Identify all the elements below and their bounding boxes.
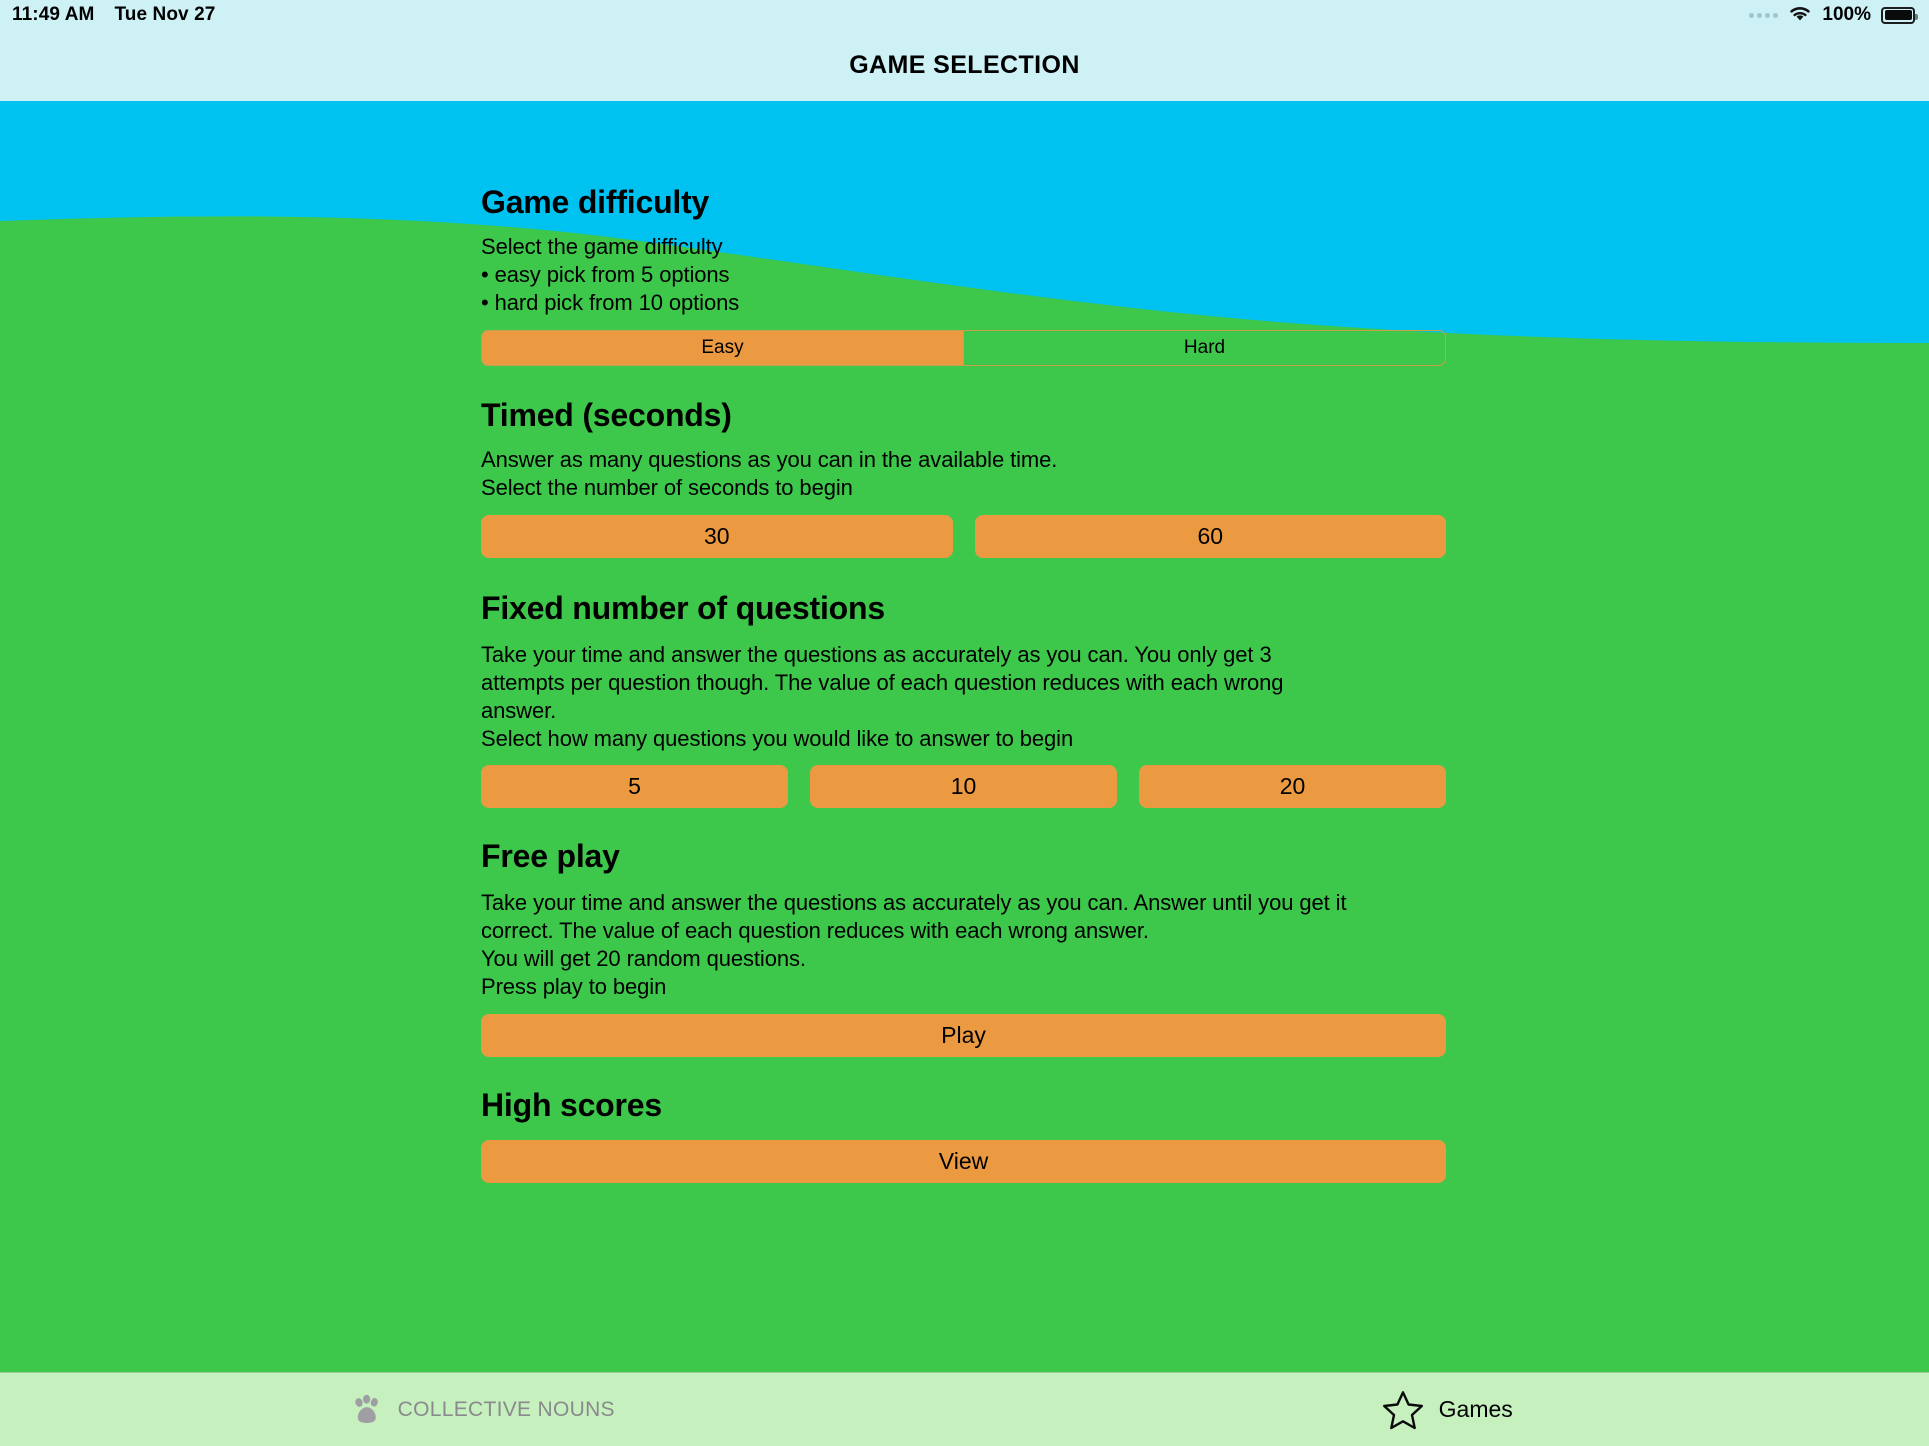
status-bar-left: 11:49 AM Tue Nov 27 [0,4,215,26]
signal-dots-icon [1749,13,1778,18]
tab-label-collective-nouns: COLLECTIVE NOUNS [398,1398,615,1422]
status-bar-right: 100% [1749,0,1915,30]
difficulty-option-hard[interactable]: Hard [964,331,1445,365]
free-play-desc-line-3: You will get 20 random questions. [481,945,1446,973]
star-outline-icon [1381,1389,1425,1431]
difficulty-desc-line-3: • hard pick from 10 options [481,289,1446,317]
tab-slot-collective-nouns: COLLECTIVE NOUNS [0,1373,965,1446]
fixed-desc-line-3: answer. [481,697,1446,725]
tab-bar: COLLECTIVE NOUNS Games [0,1372,1929,1446]
free-play-desc-line-2: correct. The value of each question redu… [481,917,1446,945]
difficulty-option-easy[interactable]: Easy [482,331,964,365]
fixed-button-10[interactable]: 10 [810,765,1117,808]
section-desc-fixed-questions: Take your time and answer the questions … [481,641,1446,753]
section-desc-timed: Answer as many questions as you can in t… [481,446,1446,502]
section-timed: Timed (seconds) Answer as many questions… [481,397,1446,558]
free-play-button-row: Play [481,1014,1446,1057]
timed-button-60[interactable]: 60 [975,515,1447,558]
section-high-scores: High scores View [481,1087,1446,1183]
page-title: GAME SELECTION [849,51,1080,80]
fixed-desc-line-4: Select how many questions you would like… [481,725,1446,753]
section-title-high-scores: High scores [481,1087,1446,1124]
play-button[interactable]: Play [481,1014,1446,1057]
section-fixed-questions: Fixed number of questions Take your time… [481,590,1446,808]
section-desc-game-difficulty: Select the game difficulty • easy pick f… [481,233,1446,317]
timed-button-30[interactable]: 30 [481,515,953,558]
battery-percent-label: 100% [1822,4,1871,26]
tab-games[interactable]: Games [1381,1389,1513,1431]
battery-full-icon [1881,7,1915,24]
navigation-bar: GAME SELECTION [0,30,1929,101]
paw-print-icon [350,1394,384,1426]
free-play-desc-line-1: Take your time and answer the questions … [481,889,1446,917]
tab-slot-games: Games [965,1373,1929,1446]
fixed-button-row: 5 10 20 [481,765,1446,808]
section-title-free-play: Free play [481,838,1446,875]
timed-button-row: 30 60 [481,515,1446,558]
status-date: Tue Nov 27 [114,4,215,26]
section-title-game-difficulty: Game difficulty [481,184,1446,221]
fixed-button-5[interactable]: 5 [481,765,788,808]
status-time: 11:49 AM [12,4,94,26]
app-screen: 11:49 AM Tue Nov 27 100% GAME SELECTION [0,0,1929,1446]
tab-label-games: Games [1439,1396,1513,1423]
fixed-button-20[interactable]: 20 [1139,765,1446,808]
difficulty-desc-line-1: Select the game difficulty [481,233,1446,261]
high-scores-button-row: View [481,1140,1446,1183]
difficulty-desc-line-2: • easy pick from 5 options [481,261,1446,289]
section-desc-free-play: Take your time and answer the questions … [481,889,1446,1001]
content-column: Game difficulty Select the game difficul… [481,101,1446,1183]
section-free-play: Free play Take your time and answer the … [481,838,1446,1057]
section-game-difficulty: Game difficulty Select the game difficul… [481,184,1446,366]
main-content: Game difficulty Select the game difficul… [0,101,1929,1372]
wifi-icon [1788,4,1812,27]
fixed-desc-line-1: Take your time and answer the questions … [481,641,1446,669]
timed-desc-line-2: Select the number of seconds to begin [481,474,1446,502]
timed-desc-line-1: Answer as many questions as you can in t… [481,446,1446,474]
section-title-fixed-questions: Fixed number of questions [481,590,1446,627]
section-title-timed: Timed (seconds) [481,397,1446,434]
difficulty-segmented-control[interactable]: Easy Hard [481,330,1446,366]
fixed-desc-line-2: attempts per question though. The value … [481,669,1446,697]
free-play-desc-line-4: Press play to begin [481,973,1446,1001]
view-high-scores-button[interactable]: View [481,1140,1446,1183]
status-bar: 11:49 AM Tue Nov 27 100% [0,0,1929,30]
tab-collective-nouns[interactable]: COLLECTIVE NOUNS [350,1394,615,1426]
